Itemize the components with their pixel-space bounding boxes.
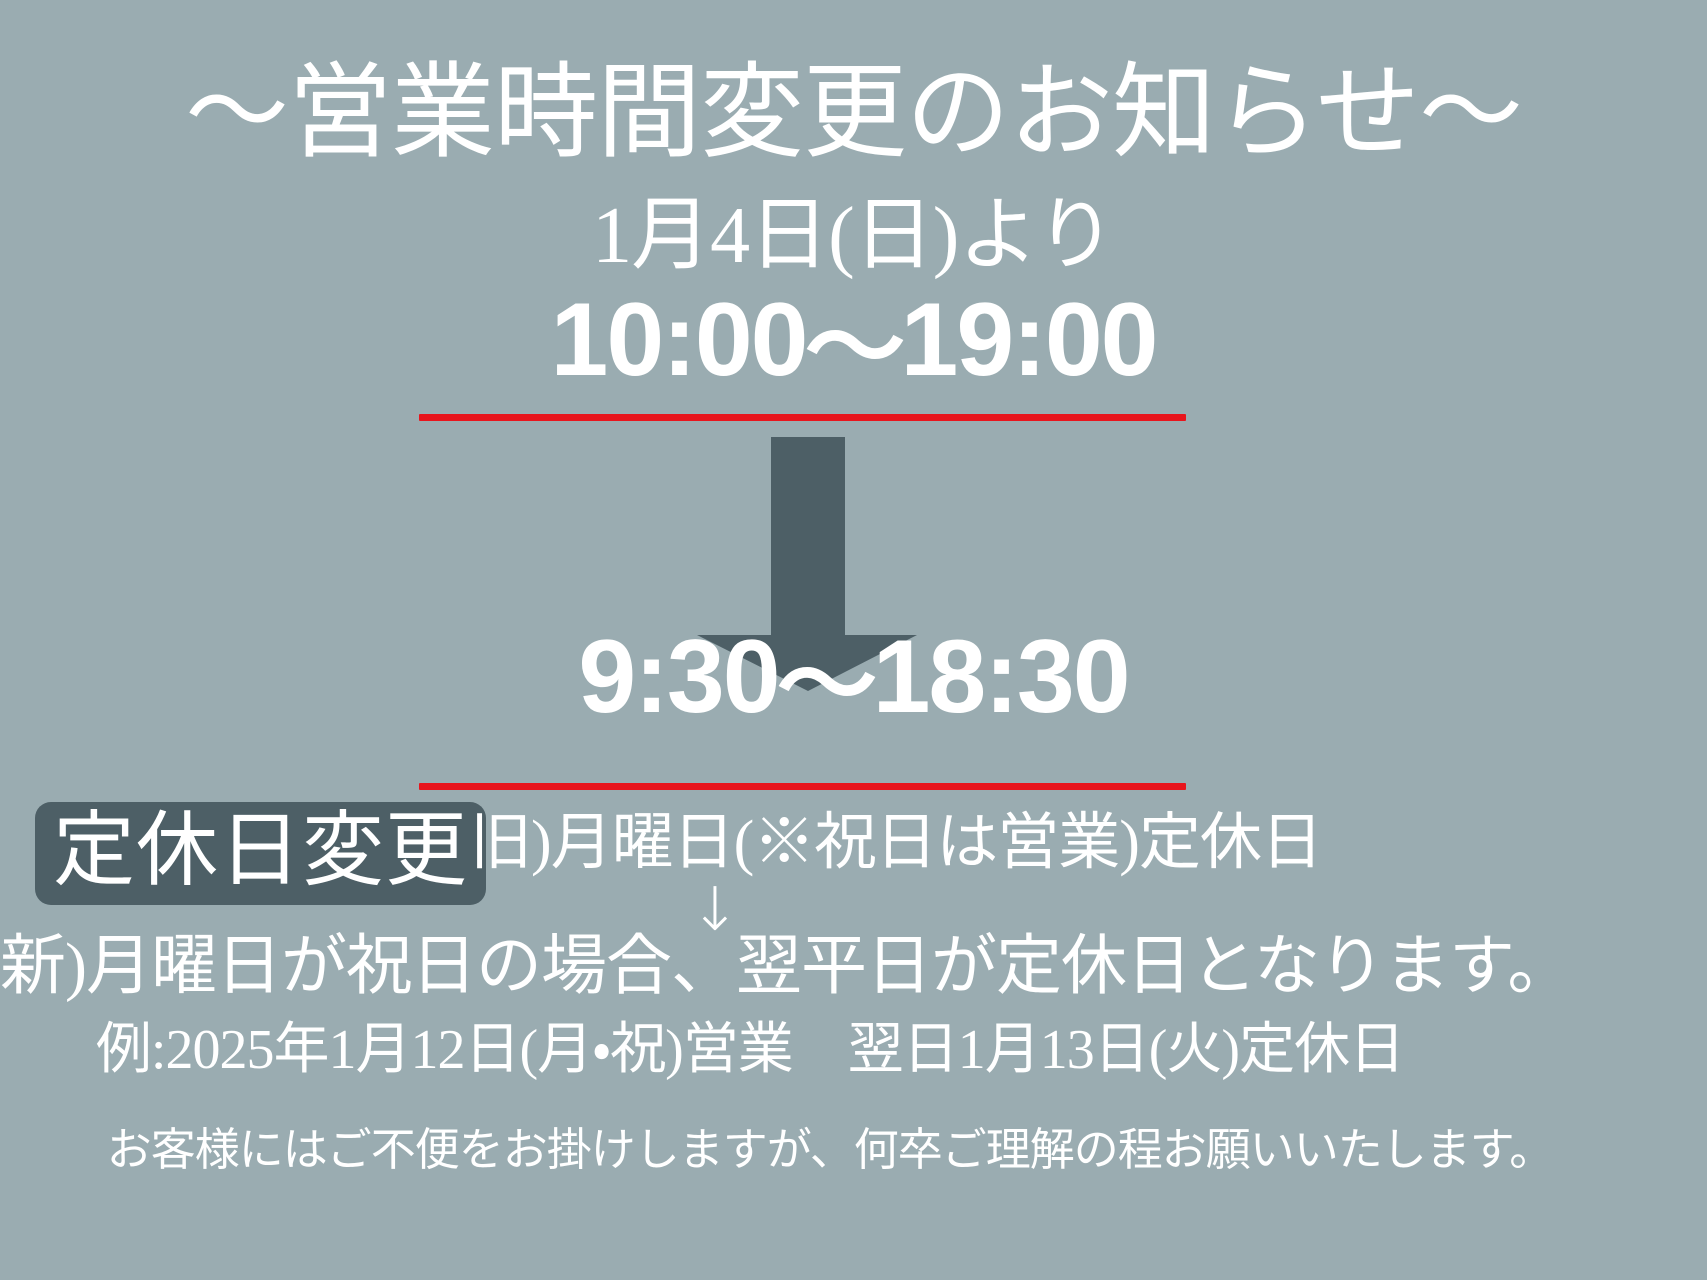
- old-hours-start: 10:00: [551, 282, 807, 398]
- effective-date-subtitle: 1月4日(日)より: [0, 196, 1707, 276]
- new-business-hours: 9:30〜18:30: [0, 625, 1707, 729]
- apology-note: お客様にはご不便をお掛けしますが、何卒ご理解の程お願いいたします。: [0, 1128, 1660, 1173]
- closed-day-example: 例:2025年1月12日(月・祝)営業 翌日1月13日(火)定休日: [0, 1022, 1500, 1078]
- old-hours-underline: [419, 414, 1186, 421]
- range-separator-icon: 〜: [776, 638, 875, 734]
- old-hours-end: 19:00: [901, 282, 1157, 398]
- business-hours-change-notice: 〜営業時間変更のお知らせ〜 1月4日(日)より 10:00〜19:00 9:30…: [0, 0, 1707, 1280]
- range-separator-icon: 〜: [804, 301, 903, 397]
- new-hours-start: 9:30: [578, 619, 778, 735]
- new-closed-day-rule: 新)月曜日が祝日の場合、翌平日が定休日となります。: [0, 934, 1510, 1000]
- old-closed-day-rule: 旧)月曜日(※祝日は営業)定休日: [470, 812, 1322, 874]
- new-hours-end: 18:30: [873, 619, 1129, 735]
- old-business-hours: 10:00〜19:00: [0, 288, 1707, 392]
- new-hours-underline: [419, 783, 1186, 790]
- page-title: 〜営業時間変更のお知らせ〜: [0, 62, 1707, 166]
